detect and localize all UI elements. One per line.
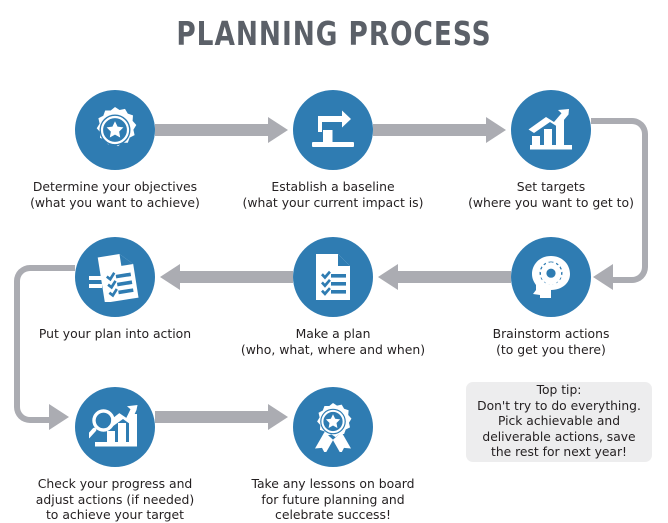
caption-line-2: (where you want to get to)	[442, 195, 660, 211]
head-gear-icon	[511, 237, 591, 317]
magnifier-bar-chart-icon	[75, 387, 155, 467]
caption-line-2: (what your current impact is)	[224, 195, 442, 211]
caption-line-3: to achieve your target	[6, 507, 224, 523]
caption-line-2: for future planning and	[224, 492, 442, 508]
badge-star-icon	[75, 90, 155, 170]
tip-line-3: Pick achievable and	[477, 414, 641, 429]
step-caption: Check your progress and adjust actions (…	[6, 476, 224, 523]
step-take-lessons[interactable]: Take any lessons on board for future pla…	[224, 387, 442, 523]
step-establish-baseline[interactable]: Establish a baseline (what your current …	[224, 90, 442, 210]
step-caption: Take any lessons on board for future pla…	[224, 476, 442, 523]
caption-line-3: celebrate success!	[224, 507, 442, 523]
caption-line-1: Determine your objectives	[6, 179, 224, 195]
caption-line-1: Put your plan into action	[6, 326, 224, 342]
top-tip-box: Top tip: Don't try to do everything. Pic…	[466, 382, 652, 462]
step-put-plan-into-action[interactable]: Put your plan into action	[6, 237, 224, 342]
tip-line-2: Don't try to do everything.	[477, 399, 641, 414]
starting-line-arrow-icon	[293, 90, 373, 170]
checklist-document-icon	[293, 237, 373, 317]
caption-line-2: (what you want to achieve)	[6, 195, 224, 211]
step-caption: Set targets (where you want to get to)	[442, 179, 660, 210]
step-caption: Determine your objectives (what you want…	[6, 179, 224, 210]
caption-line-2: (who, what, where and when)	[224, 342, 442, 358]
step-determine-objectives[interactable]: Determine your objectives (what you want…	[6, 90, 224, 210]
caption-line-1: Take any lessons on board	[224, 476, 442, 492]
step-caption: Put your plan into action	[6, 326, 224, 342]
caption-line-1: Brainstorm actions	[442, 326, 660, 342]
checklist-document-tilted-icon	[75, 237, 155, 317]
tip-line-5: the rest for next year!	[477, 445, 641, 460]
caption-line-2: (to get you there)	[442, 342, 660, 358]
tip-line-4: deliverable actions, save	[477, 430, 641, 445]
caption-line-2: adjust actions (if needed)	[6, 492, 224, 508]
caption-line-1: Check your progress and	[6, 476, 224, 492]
step-brainstorm-actions[interactable]: Brainstorm actions (to get you there)	[442, 237, 660, 357]
page-title: PLANNING PROCESS	[67, 14, 601, 53]
step-caption: Brainstorm actions (to get you there)	[442, 326, 660, 357]
step-make-a-plan[interactable]: Make a plan (who, what, where and when)	[224, 237, 442, 357]
top-tip-text: Top tip: Don't try to do everything. Pic…	[477, 383, 641, 460]
caption-line-1: Set targets	[442, 179, 660, 195]
step-set-targets[interactable]: Set targets (where you want to get to)	[442, 90, 660, 210]
step-caption: Make a plan (who, what, where and when)	[224, 326, 442, 357]
step-check-progress[interactable]: Check your progress and adjust actions (…	[6, 387, 224, 523]
tip-line-1: Top tip:	[477, 383, 641, 398]
award-ribbon-star-icon	[293, 387, 373, 467]
caption-line-1: Make a plan	[224, 326, 442, 342]
infographic-canvas: PLANNING PROCESS	[0, 0, 668, 514]
caption-line-1: Establish a baseline	[224, 179, 442, 195]
step-caption: Establish a baseline (what your current …	[224, 179, 442, 210]
bar-chart-growth-arrow-icon	[511, 90, 591, 170]
